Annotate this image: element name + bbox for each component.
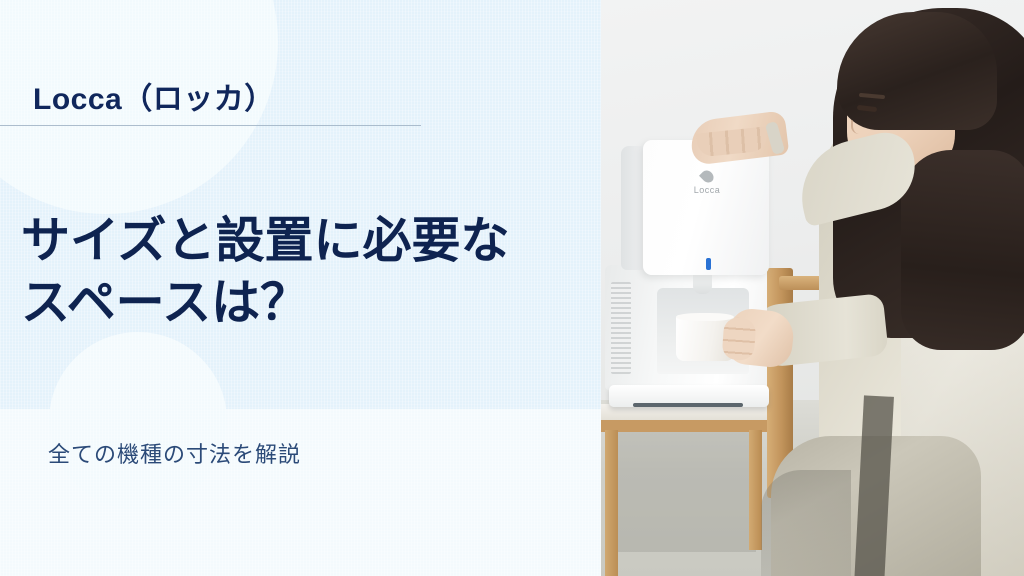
table-under-shadow [611,432,756,552]
headline-line-1: サイズと設置に必要な [21,211,581,273]
water-dispenser-led-indicator [706,258,711,270]
water-dispenser-base-strip [633,403,743,407]
person-hair-strand [901,150,1024,350]
water-dispenser-spout [693,272,712,294]
table-leg-left [605,430,618,576]
headline-line-2: スペースは？ [21,273,581,335]
person-hand-bottom-fingers [722,317,757,361]
table-apron [601,420,771,432]
person-legs-shadow [761,470,851,576]
person-nose [851,120,865,134]
photo-scene: Locca [601,0,1024,576]
slide-canvas: Locca（ロッカ） サイズと設置に必要な スペースは？ 全ての機種の寸法を解説 [0,0,1024,576]
left-text-panel: Locca（ロッカ） サイズと設置に必要な スペースは？ 全ての機種の寸法を解説 [0,0,601,576]
subtitle: 全ての機種の寸法を解説 [48,437,301,469]
device-logo-text: Locca [687,185,727,195]
title-divider [0,125,421,126]
water-drop-icon [699,168,716,185]
hero-photo: Locca [601,0,1024,576]
water-dispenser-vents [611,282,631,374]
brand-title: Locca（ロッカ） [33,74,275,118]
text-content: Locca（ロッカ） サイズと設置に必要な スペースは？ 全ての機種の寸法を解説 [0,0,601,576]
mug-rim [676,313,734,321]
page-title: サイズと設置に必要な スペースは？ [21,211,581,334]
device-logo: Locca [687,170,727,195]
